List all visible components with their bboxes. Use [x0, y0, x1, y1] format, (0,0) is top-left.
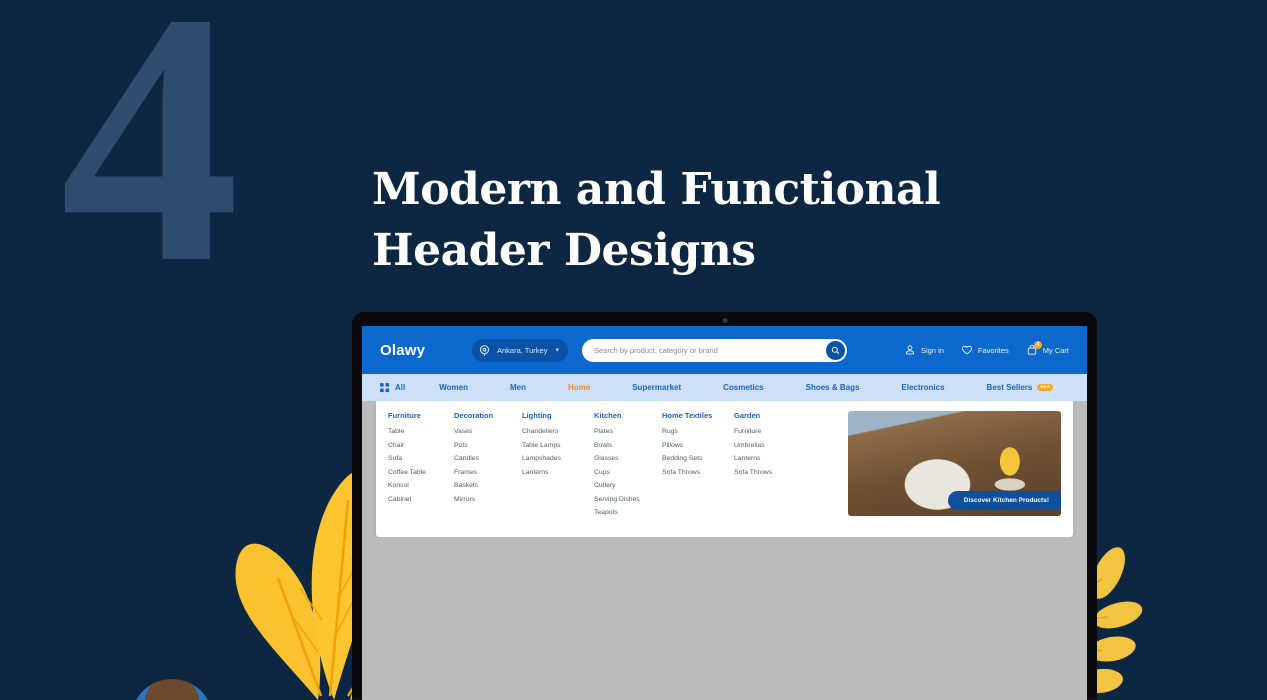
- nav-label-men: Men: [510, 383, 526, 392]
- page-title-line-2: Header Designs: [372, 221, 940, 282]
- nav-label-cosmetics: Cosmetics: [723, 383, 763, 392]
- laptop-screen: Olawy Ankara, Turkey ▾: [362, 326, 1087, 700]
- location-label: Ankara, Turkey: [497, 346, 547, 355]
- mega-column-garden: Garden Furniture Umbrellas Lanterns Sofa…: [734, 411, 806, 523]
- mega-link[interactable]: Bowls: [594, 442, 662, 449]
- category-nav: All Women Men Home Supermarket Cosmetics…: [362, 374, 1087, 401]
- nav-item-cosmetics[interactable]: Cosmetics: [723, 383, 763, 392]
- mega-link[interactable]: Cups: [594, 469, 662, 476]
- mega-link[interactable]: Lanterns: [734, 455, 806, 462]
- webcam-icon: [722, 318, 727, 323]
- mega-link[interactable]: Lampshades: [522, 455, 594, 462]
- mega-link[interactable]: Cabinet: [388, 496, 454, 503]
- slide-number: 4: [60, 0, 234, 318]
- header-actions: Sign in Favorites 4 My Cart: [904, 344, 1069, 356]
- mega-column-lighting: Lighting Chandeliers Table Lamps Lampsha…: [522, 411, 594, 523]
- location-selector[interactable]: Ankara, Turkey ▾: [472, 339, 568, 362]
- sign-in-label: Sign in: [921, 346, 944, 355]
- mega-column-title: Home Textiles: [662, 411, 734, 420]
- search-bar[interactable]: [582, 339, 847, 362]
- search-input[interactable]: [594, 346, 826, 355]
- mega-column-title: Lighting: [522, 411, 594, 420]
- location-pin-icon: [478, 344, 491, 357]
- page-body-placeholder: [362, 537, 1087, 700]
- mega-link[interactable]: Umbrellas: [734, 442, 806, 449]
- mega-link[interactable]: Glasses: [594, 455, 662, 462]
- nav-label-shoes-bags: Shoes & Bags: [806, 383, 860, 392]
- sign-in-button[interactable]: Sign in: [904, 344, 944, 356]
- nav-item-women[interactable]: Women: [439, 383, 468, 392]
- promo-cta-button[interactable]: Discover Kitchen Products!: [948, 491, 1061, 510]
- mega-column-title: Furniture: [388, 411, 454, 420]
- mega-link[interactable]: Lanterns: [522, 469, 594, 476]
- nav-label-home: Home: [568, 383, 590, 392]
- mega-link[interactable]: Furniture: [734, 428, 806, 435]
- cart-label: My Cart: [1043, 346, 1069, 355]
- mega-link[interactable]: Table: [388, 428, 454, 435]
- mega-link[interactable]: Serving Dishes: [594, 496, 662, 503]
- mega-link[interactable]: Sofa: [388, 455, 454, 462]
- mega-column-title: Kitchen: [594, 411, 662, 420]
- nav-item-all[interactable]: All: [380, 383, 405, 393]
- mega-link[interactable]: Chair: [388, 442, 454, 449]
- mega-link[interactable]: Teapots: [594, 509, 662, 516]
- mega-link[interactable]: Bedding Sets: [662, 455, 734, 462]
- mega-link[interactable]: Vases: [454, 428, 522, 435]
- mega-link[interactable]: Baskets: [454, 482, 522, 489]
- mega-link[interactable]: Cutlery: [594, 482, 662, 489]
- mega-link[interactable]: Pots: [454, 442, 522, 449]
- nav-label-supermarket: Supermarket: [632, 383, 681, 392]
- nav-label-electronics: Electronics: [901, 383, 944, 392]
- avatar: [131, 679, 213, 700]
- mega-column-furniture: Furniture Table Chair Sofa Coffee Table …: [388, 411, 454, 523]
- laptop-mockup: Olawy Ankara, Turkey ▾: [352, 312, 1097, 700]
- mega-column-home-textiles: Home Textiles Rugs Pillows Bedding Sets …: [662, 411, 734, 523]
- page-title-line-1: Modern and Functional: [372, 164, 940, 215]
- grid-icon: [380, 383, 390, 393]
- brand-logo[interactable]: Olawy: [380, 342, 458, 359]
- mega-link[interactable]: Rugs: [662, 428, 734, 435]
- nav-item-best-sellers[interactable]: Best Sellers New: [987, 383, 1054, 392]
- nav-label-best-sellers: Best Sellers: [987, 383, 1033, 392]
- favorites-label: Favorites: [978, 346, 1009, 355]
- nav-item-men[interactable]: Men: [510, 383, 526, 392]
- mega-link[interactable]: Sofa Throws: [662, 469, 734, 476]
- mega-column-kitchen: Kitchen Plates Bowls Glasses Cups Cutler…: [594, 411, 662, 523]
- mega-column-title: Decoration: [454, 411, 522, 420]
- heart-icon: [961, 344, 973, 356]
- nav-item-shoes-bags[interactable]: Shoes & Bags: [806, 383, 860, 392]
- mega-link[interactable]: Candles: [454, 455, 522, 462]
- mega-menu-dropdown: Furniture Table Chair Sofa Coffee Table …: [376, 401, 1073, 537]
- cart-badge: 4: [1034, 341, 1042, 349]
- nav-item-home[interactable]: Home: [568, 383, 590, 392]
- promo-banner[interactable]: Discover Kitchen Products!: [848, 411, 1061, 516]
- search-icon: [831, 346, 840, 355]
- page-title: Modern and Functional Header Designs: [372, 160, 940, 281]
- nav-item-electronics[interactable]: Electronics: [901, 383, 944, 392]
- favorites-button[interactable]: Favorites: [961, 344, 1009, 356]
- search-button[interactable]: [826, 341, 845, 360]
- nav-item-supermarket[interactable]: Supermarket: [632, 383, 681, 392]
- chevron-down-icon: ▾: [555, 346, 559, 354]
- nav-label-women: Women: [439, 383, 468, 392]
- site-header: Olawy Ankara, Turkey ▾: [362, 326, 1087, 374]
- mega-link[interactable]: Frames: [454, 469, 522, 476]
- mega-link[interactable]: Mirrors: [454, 496, 522, 503]
- mega-link[interactable]: Plates: [594, 428, 662, 435]
- nav-badge-new: New: [1037, 384, 1053, 392]
- mega-link[interactable]: Chandeliers: [522, 428, 594, 435]
- user-icon: [904, 344, 916, 356]
- mega-column-decoration: Decoration Vases Pots Candles Frames Bas…: [454, 411, 522, 523]
- mega-link[interactable]: Konsol: [388, 482, 454, 489]
- mega-link[interactable]: Table Lamps: [522, 442, 594, 449]
- nav-label-all: All: [395, 383, 405, 392]
- mega-link[interactable]: Coffee Table: [388, 469, 454, 476]
- mega-link[interactable]: Pillows: [662, 442, 734, 449]
- mega-column-title: Garden: [734, 411, 806, 420]
- cart-button[interactable]: 4 My Cart: [1026, 344, 1069, 356]
- mega-link[interactable]: Sofa Throws: [734, 469, 806, 476]
